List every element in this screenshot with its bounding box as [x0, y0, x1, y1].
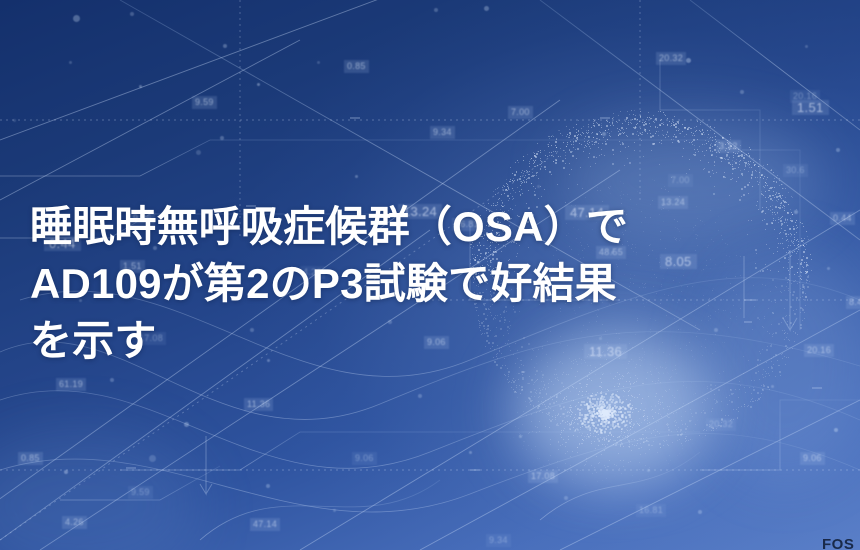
page-title: 睡眠時無呼吸症候群（OSA）で AD109が第2のP3試験で好結果 を示す	[30, 198, 650, 369]
watermark-label: FOS	[822, 537, 860, 550]
article-hero-banner: 47.1416.8148.5530.620.329.0617.089.5913.…	[0, 0, 860, 550]
glow-accent-right	[700, 250, 860, 480]
glow-accent-bottom-left	[0, 430, 200, 550]
